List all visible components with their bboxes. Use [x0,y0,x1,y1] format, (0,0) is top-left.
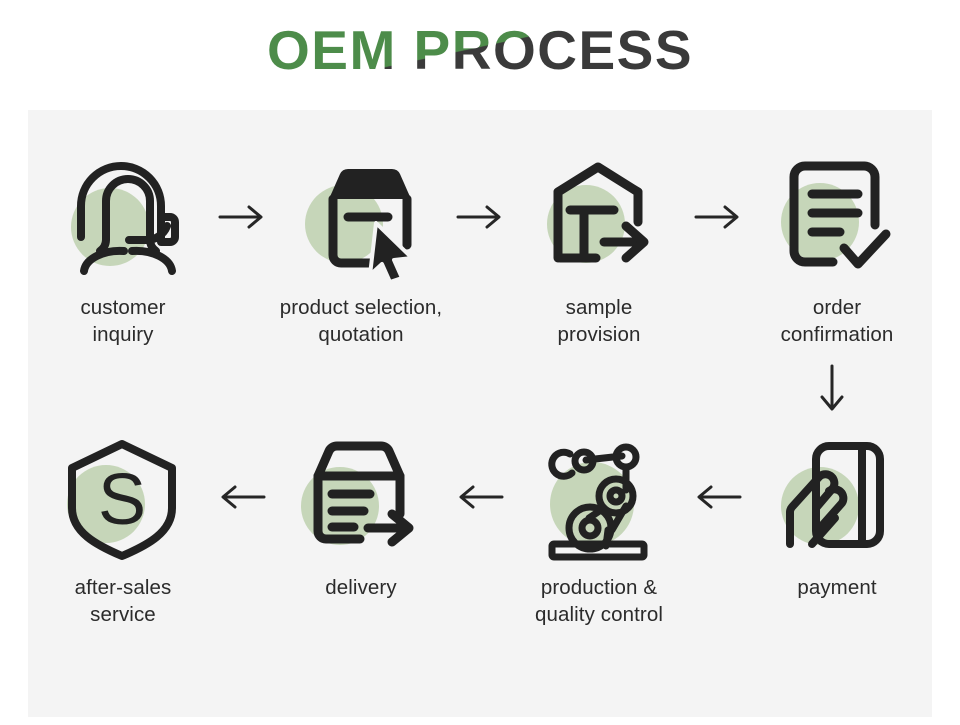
process-diagram-panel: customer inquiry [28,110,932,717]
step-payment[interactable]: payment [742,432,932,601]
step-order-confirmation[interactable]: order confirmation [742,152,932,348]
step-label: order confirmation [781,294,894,348]
step-label: after-sales service [75,574,172,628]
page-header: OEM PROCESS [0,22,960,80]
page-title: OEM PROCESS [267,22,693,80]
step-after-sales-service[interactable]: S after-sales service [28,432,218,628]
robot-arm-icon [532,432,667,562]
box-lines-arrow-icon [294,432,429,562]
arrow-right-icon-1 [218,152,266,282]
hand-credit-card-icon [770,432,905,562]
shield-s-icon: S [56,432,191,562]
step-label: delivery [325,574,396,601]
arrow-right-icon-3 [694,152,742,282]
step-sample-provision[interactable]: sample provision [504,152,694,348]
step-label: payment [797,574,876,601]
arrow-right-icon-2 [456,152,504,282]
svg-text:S: S [98,460,146,540]
headset-support-icon [56,152,191,282]
process-row-top: customer inquiry [28,152,932,348]
warehouse-exit-arrow-icon [532,152,667,282]
step-product-selection[interactable]: product selection, quotation [266,152,456,348]
process-row-bottom: S after-sales service [28,432,932,628]
arrow-left-icon-1 [218,432,266,562]
box-cursor-icon [294,152,429,282]
arrow-left-icon-2 [456,432,504,562]
step-label: sample provision [558,294,641,348]
step-label: production & quality control [535,574,663,628]
arrow-left-icon-3 [694,432,742,562]
document-check-icon [770,152,905,282]
step-customer-inquiry[interactable]: customer inquiry [28,152,218,348]
step-label: product selection, quotation [280,294,442,348]
step-label: customer inquiry [80,294,165,348]
step-delivery[interactable]: delivery [266,432,456,601]
arrow-down-icon [807,358,857,420]
step-production-quality-control[interactable]: production & quality control [504,432,694,628]
